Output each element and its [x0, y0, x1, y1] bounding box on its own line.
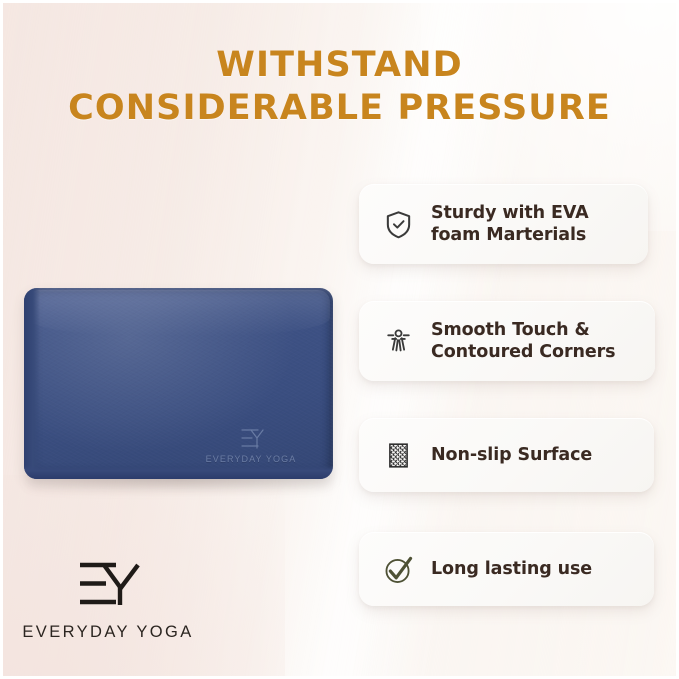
- feature-card-list: Sturdy with EVA foam Marterials: [359, 184, 659, 606]
- feature-card-non-slip-surface[interactable]: Non-slip Surface: [359, 418, 654, 492]
- feature-card-long-lasting-use[interactable]: Long lasting use: [359, 532, 654, 606]
- brand-name: EVERYDAY YOGA: [22, 623, 194, 642]
- embossed-brand-name: EVERYDAY YOGA: [185, 454, 317, 464]
- brand-logo: EVERYDAY YOGA: [22, 558, 194, 642]
- textured-surface-icon: [381, 438, 415, 472]
- feature-label: Long lasting use: [431, 558, 592, 580]
- page-title: WITHSTAND CONSIDERABLE PRESSURE: [58, 44, 621, 130]
- ey-monogram-icon: [62, 558, 154, 614]
- block-bottom-edge: [24, 465, 333, 479]
- feature-label: Smooth Touch & Contoured Corners: [431, 319, 641, 364]
- feature-card-smooth-touch[interactable]: Smooth Touch & Contoured Corners: [359, 301, 655, 381]
- product-image: EVERYDAY YOGA: [12, 270, 342, 510]
- block-left-edge: [24, 288, 40, 479]
- feature-label: Sturdy with EVA foam Marterials: [431, 202, 634, 247]
- yoga-block: EVERYDAY YOGA: [24, 288, 333, 479]
- feature-label: Non-slip Surface: [431, 444, 592, 466]
- product-feature-poster: WITHSTAND CONSIDERABLE PRESSURE EVERYDAY…: [0, 0, 679, 679]
- feature-card-sturdy-eva-foam[interactable]: Sturdy with EVA foam Marterials: [359, 184, 648, 264]
- top-sheen: [27, 290, 330, 336]
- embossed-ey-monogram-icon: [238, 426, 264, 452]
- vitruvian-figure-icon: [381, 324, 415, 358]
- embossed-brand-logo: EVERYDAY YOGA: [185, 426, 317, 464]
- circle-check-icon: [381, 552, 415, 586]
- shield-check-icon: [381, 207, 415, 241]
